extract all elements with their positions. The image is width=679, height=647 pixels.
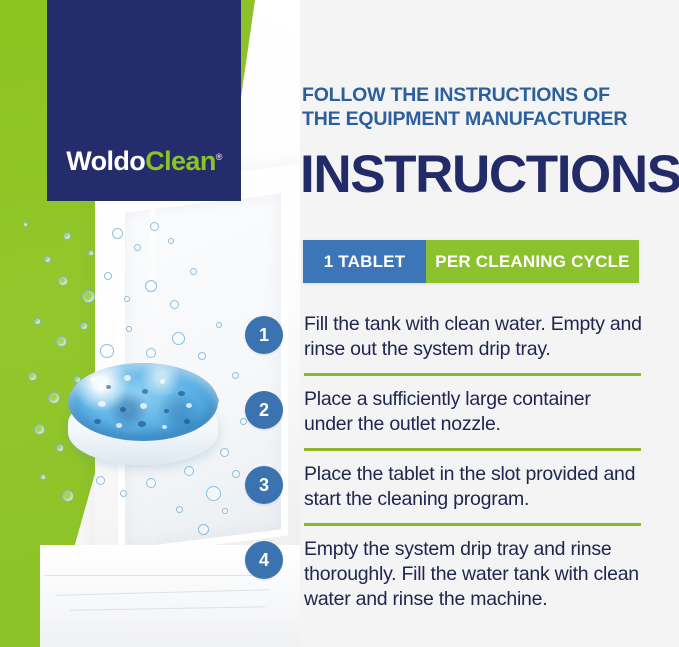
- bubble-icon: [126, 326, 132, 332]
- bubble-icon: [56, 336, 67, 347]
- step-number-badge: 3: [245, 466, 283, 504]
- bubble-icon: [34, 318, 41, 325]
- bubble-icon: [170, 300, 179, 309]
- kicker-line-1: FOLLOW THE INSTRUCTIONS OF: [302, 84, 662, 108]
- bubble-icon: [44, 256, 51, 263]
- registered-trademark-icon: ®: [216, 152, 222, 162]
- step-number-badge: 1: [245, 316, 283, 354]
- kicker-line-2: THE EQUIPMENT MANUFACTURER: [302, 108, 662, 132]
- bubble-icon: [104, 272, 112, 280]
- logo-text-secondary: Clean: [145, 146, 216, 176]
- instruction-steps-list: 1 Fill the tank with clean water. Empty …: [245, 312, 679, 611]
- step-divider: [304, 523, 641, 526]
- content-panel: FOLLOW THE INSTRUCTIONS OF THE EQUIPMENT…: [302, 0, 679, 647]
- list-item: 4 Empty the system drip tray and rinse t…: [245, 537, 679, 611]
- list-item: 1 Fill the tank with clean water. Empty …: [245, 312, 679, 376]
- bubble-icon: [176, 506, 183, 513]
- dosage-badge-bar: 1 TABLET PER CLEANING CYCLE: [303, 240, 639, 283]
- bubble-icon: [172, 332, 185, 345]
- bubble-icon: [23, 222, 28, 227]
- brand-logo: WoldoClean®: [47, 0, 241, 201]
- step-description: Empty the system drip tray and rinse tho…: [304, 537, 642, 611]
- step-description: Place a sufficiently large container und…: [304, 387, 642, 436]
- bubble-icon: [190, 268, 197, 275]
- bubble-icon: [28, 372, 37, 381]
- instruction-step: 3 Place the tablet in the slot provided …: [245, 462, 679, 511]
- bubble-icon: [63, 232, 71, 240]
- floor-line: [45, 575, 275, 576]
- kicker-heading: FOLLOW THE INSTRUCTIONS OF THE EQUIPMENT…: [302, 84, 662, 132]
- step-description: Place the tablet in the slot provided an…: [304, 462, 642, 511]
- bubble-icon: [96, 476, 105, 485]
- bubble-icon: [112, 228, 123, 239]
- logo-text-primary: Woldo: [66, 146, 145, 176]
- bubble-icon: [58, 276, 68, 286]
- bubble-icon: [198, 524, 209, 535]
- dosage-amount-badge: 1 TABLET: [303, 240, 426, 283]
- bubble-icon: [206, 486, 221, 501]
- bubble-icon: [232, 372, 239, 379]
- bubble-icon: [146, 478, 156, 488]
- bubble-icon: [88, 250, 94, 256]
- bubble-icon: [62, 490, 74, 502]
- tablet-image: [60, 355, 230, 475]
- dosage-frequency-badge: PER CLEANING CYCLE: [426, 240, 639, 283]
- instruction-poster: WoldoClean® FOLLOW THE INSTRUCTIONS OF T…: [0, 0, 679, 647]
- bubble-icon: [150, 222, 159, 231]
- list-item: 2 Place a sufficiently large container u…: [245, 387, 679, 451]
- bubble-icon: [80, 322, 88, 330]
- bubble-icon: [120, 490, 127, 497]
- tablet-surface: [68, 363, 218, 441]
- instruction-step: 1 Fill the tank with clean water. Empty …: [245, 312, 679, 361]
- list-item: 3 Place the tablet in the slot provided …: [245, 462, 679, 526]
- bubble-icon: [124, 296, 130, 302]
- page-title: INSTRUCTIONS: [300, 148, 679, 201]
- bubble-icon: [222, 508, 228, 514]
- instruction-step: 2 Place a sufficiently large container u…: [245, 387, 679, 436]
- bubble-icon: [48, 392, 60, 404]
- step-number-badge: 2: [245, 391, 283, 429]
- bubble-icon: [82, 290, 95, 303]
- step-divider: [304, 373, 641, 376]
- bubble-icon: [168, 238, 174, 244]
- bubble-icon: [34, 424, 45, 435]
- bubble-icon: [232, 470, 240, 478]
- step-divider: [304, 448, 641, 451]
- bubble-icon: [216, 322, 222, 328]
- instruction-step: 4 Empty the system drip tray and rinse t…: [245, 537, 679, 611]
- bubble-icon: [145, 280, 157, 292]
- bubble-icon: [40, 474, 46, 480]
- step-number-badge: 4: [245, 541, 283, 579]
- step-description: Fill the tank with clean water. Empty an…: [304, 312, 642, 361]
- logo-wordmark: WoldoClean®: [66, 146, 222, 177]
- bubble-icon: [134, 244, 141, 251]
